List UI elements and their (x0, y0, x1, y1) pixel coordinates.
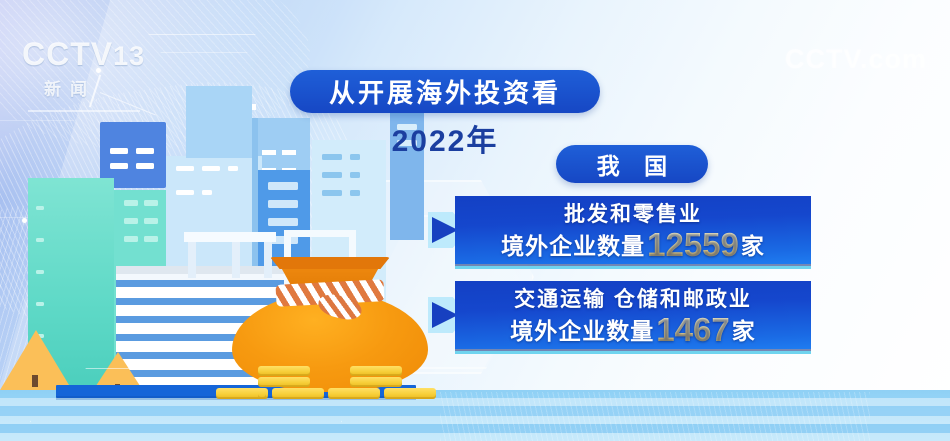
window (36, 270, 44, 274)
building-teal (28, 178, 114, 388)
cctv-logo-channel: CCTV (22, 36, 113, 72)
window (282, 168, 296, 173)
window (176, 166, 194, 171)
headline-pill: 从开展海外投资看 (290, 70, 600, 113)
building-lightblue (186, 86, 252, 158)
window (262, 150, 276, 155)
window (110, 163, 128, 169)
stat-number: 12559 (645, 226, 741, 263)
gold-coin (350, 366, 402, 376)
portal-column (232, 242, 240, 278)
money-bag-lip (270, 257, 390, 269)
window (322, 172, 342, 178)
country-pill: 我 国 (556, 145, 708, 183)
window (350, 190, 360, 196)
window (350, 172, 360, 178)
window (36, 334, 44, 338)
window (202, 190, 212, 195)
cctv-logo-number: 13 (113, 41, 145, 71)
window (144, 236, 158, 242)
year-label: 2022年 (290, 116, 600, 160)
pine-tree-1 (0, 330, 72, 390)
stat-row-transport-storage-post: 交通运输 仓储和邮政业 境外企业数量1467家 (428, 281, 811, 353)
money-bag-knot (316, 291, 364, 323)
window (268, 182, 298, 190)
window (202, 166, 220, 171)
window (124, 218, 138, 224)
window (228, 166, 238, 171)
window (36, 238, 44, 242)
stat-sector-label: 交通运输 仓储和邮政业 (455, 285, 811, 315)
window (218, 104, 236, 110)
window (124, 200, 138, 206)
node-line-1 (60, 197, 116, 241)
window (124, 236, 138, 242)
money-bag-tie (275, 279, 384, 307)
window (36, 206, 44, 210)
infographic-canvas: CCTV13 新闻 CCTV.com 从开展海外投资看 2022年 我 国 批发… (0, 0, 950, 441)
building-teal-2 (114, 190, 166, 388)
tree-trunk-1 (32, 375, 38, 387)
money-bag-neck (278, 262, 382, 292)
window (144, 218, 158, 224)
stat-row-wholesale-retail: 批发和零售业 境外企业数量12559家 (428, 196, 811, 268)
building-white-right (312, 140, 386, 350)
building-pale (166, 156, 262, 350)
hexagon-outline-bottom (30, 368, 342, 441)
cctv-com-watermark: CCTV.com (785, 44, 927, 75)
stat-number: 1467 (654, 311, 731, 348)
cctv-logo: CCTV13 新闻 (22, 38, 142, 100)
window (268, 200, 298, 208)
window (190, 104, 208, 110)
portal-roof (184, 232, 276, 242)
stat-metric-prefix: 境外企业数量 (510, 318, 654, 344)
window (246, 104, 256, 110)
stat-unit: 家 (741, 233, 765, 259)
water-ripple (440, 392, 870, 441)
stat-underline (455, 351, 811, 354)
window (136, 148, 154, 154)
window (136, 163, 154, 169)
window (322, 190, 342, 196)
frame-structure (284, 230, 356, 330)
portal-column (188, 242, 196, 278)
cctv-logo-rule (28, 110, 140, 112)
portal-column (264, 242, 272, 278)
window (268, 236, 298, 244)
hexagon-outline-3 (0, 120, 112, 218)
building-striped-cap (116, 266, 346, 274)
window (144, 200, 158, 206)
node-dot-3 (158, 200, 163, 205)
building-edge (252, 118, 258, 350)
node-dot-2 (22, 218, 27, 223)
ground-shadow (56, 396, 416, 400)
building-far-2 (312, 152, 362, 350)
stat-unit: 家 (732, 318, 756, 344)
stat-value-line: 境外企业数量1467家 (455, 313, 811, 348)
window (36, 302, 44, 306)
stat-sector-label: 批发和零售业 (455, 200, 811, 230)
window (176, 190, 194, 195)
window (262, 168, 276, 173)
window (268, 218, 298, 226)
window (110, 148, 128, 154)
stat-value-line: 境外企业数量12559家 (455, 228, 811, 263)
stat-underline (455, 266, 811, 269)
top-left-glow (0, 0, 300, 210)
cctv-logo-wordmark: CCTV13 (22, 38, 142, 70)
stat-metric-prefix: 境外企业数量 (501, 233, 645, 259)
building-blue-mid (258, 170, 310, 350)
building-navy (100, 122, 166, 188)
